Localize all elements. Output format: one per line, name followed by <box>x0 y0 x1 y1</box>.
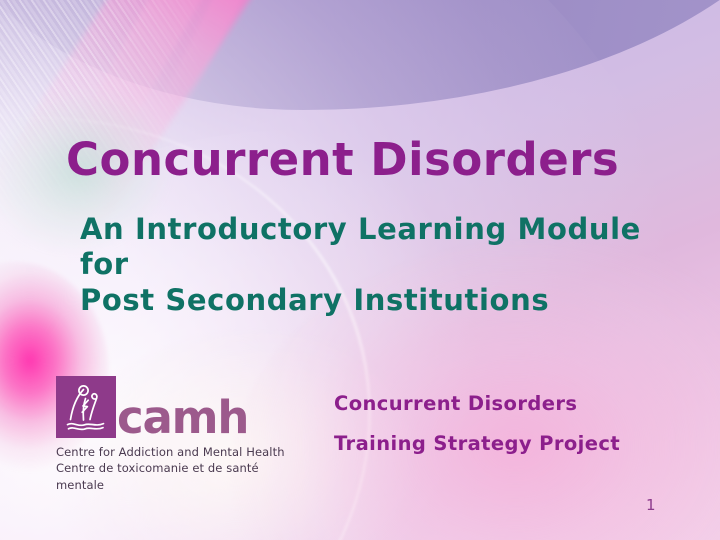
camh-logo-lockup: camh <box>56 374 288 438</box>
project-credit-line-1: Concurrent Disorders <box>334 392 620 415</box>
camh-wordmark: camh <box>117 399 248 437</box>
slide-subtitle-line-1: An Introductory Learning Module for <box>80 212 680 283</box>
presentation-slide: Concurrent Disorders An Introductory Lea… <box>0 0 720 540</box>
camh-taglines: Centre for Addiction and Mental Health C… <box>56 444 288 493</box>
slide-content: Concurrent Disorders An Introductory Lea… <box>0 0 720 540</box>
camh-tagline-english: Centre for Addiction and Mental Health <box>56 444 288 460</box>
camh-plant-water-icon <box>56 376 116 438</box>
camh-tagline-french: Centre de toxicomanie et de santé mental… <box>56 460 288 493</box>
slide-subtitle: An Introductory Learning Module for Post… <box>80 212 680 318</box>
project-credit: Concurrent Disorders Training Strategy P… <box>334 392 620 455</box>
slide-subtitle-line-2: Post Secondary Institutions <box>80 283 680 318</box>
camh-logo: camh Centre for Addiction and Mental Hea… <box>56 374 288 493</box>
slide-page-number: 1 <box>646 496 656 514</box>
slide-title: Concurrent Disorders <box>66 135 619 185</box>
project-credit-line-2: Training Strategy Project <box>334 432 620 455</box>
